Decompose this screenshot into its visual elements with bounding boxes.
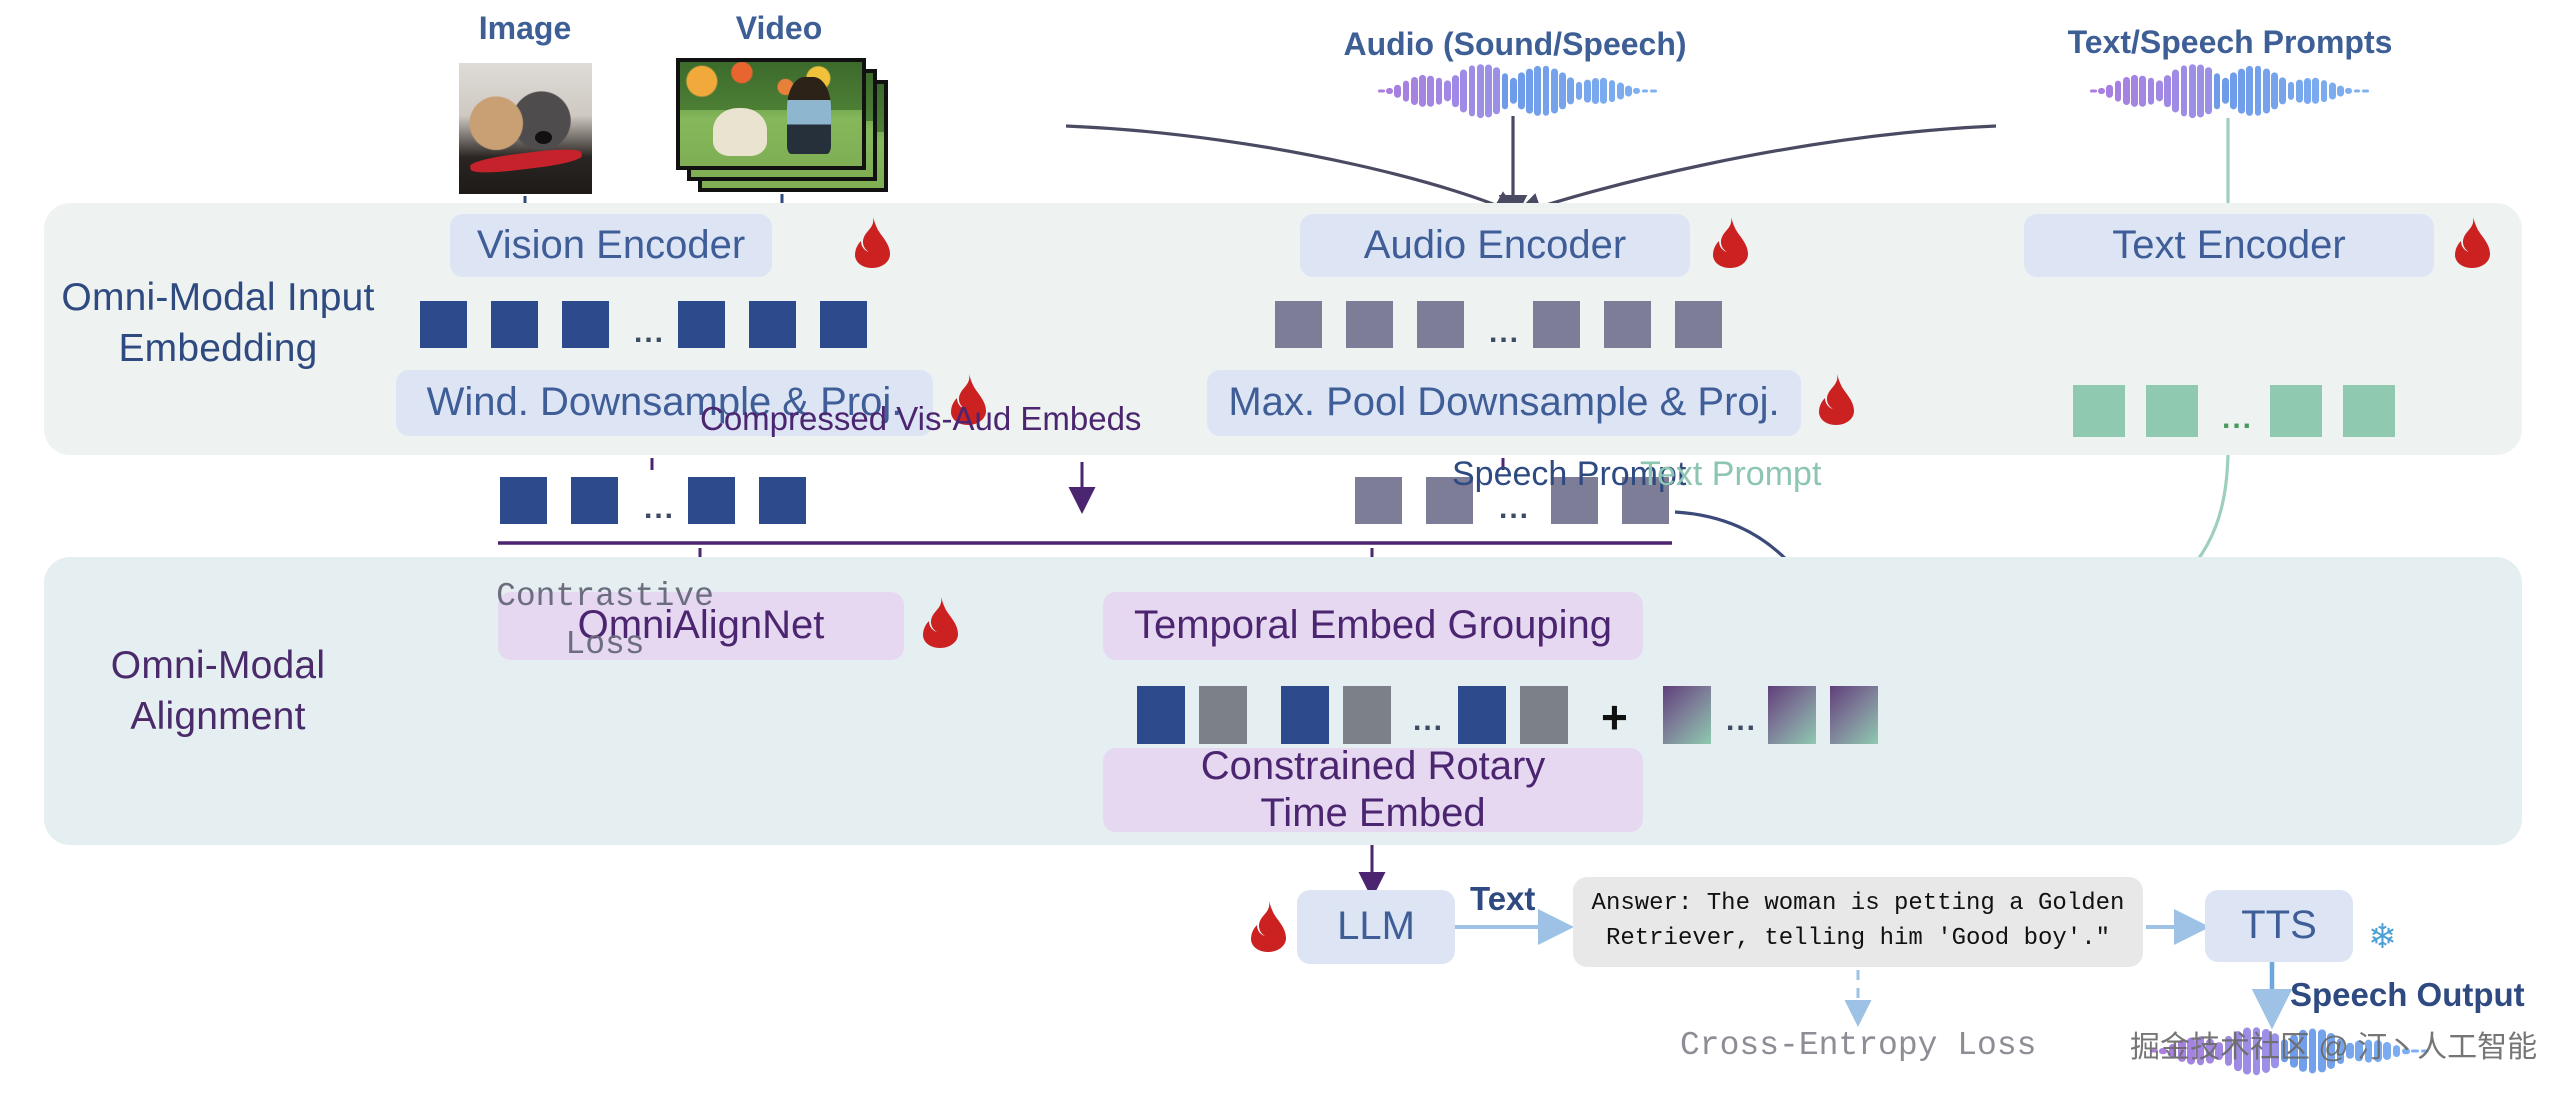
vision-token <box>562 301 609 348</box>
text-token <box>2073 385 2125 437</box>
vision-token <box>420 301 467 348</box>
combined-vision-token <box>1281 686 1329 744</box>
llm-box[interactable]: LLM <box>1297 890 1455 964</box>
speech-output-label: Speech Output <box>2290 976 2525 1014</box>
cross-entropy-loss-label: Cross-Entropy Loss <box>1680 1027 2036 1064</box>
compressed-vision-token <box>759 477 806 524</box>
audio-token <box>1675 301 1722 348</box>
audio-encoder-label: Audio Encoder <box>1364 222 1626 269</box>
vision-token <box>678 301 725 348</box>
prompt-token <box>1663 686 1711 744</box>
text-encoder-label: Text Encoder <box>2112 222 2345 269</box>
flame-icon-vision-encoder <box>852 216 892 268</box>
contrastive-loss-label: Contrastive Loss <box>440 573 770 669</box>
audio-encoder-box[interactable]: Audio Encoder <box>1300 214 1690 277</box>
combined-audio-token <box>1520 686 1568 744</box>
panel-input-label: Omni-Modal Input Embedding <box>48 272 388 375</box>
text-encoder-box[interactable]: Text Encoder <box>2024 214 2434 277</box>
image-thumbnail <box>459 63 592 194</box>
llm-label: LLM <box>1337 903 1415 950</box>
flame-icon-text-encoder <box>2452 216 2492 268</box>
compressed-audio-token <box>1355 477 1402 524</box>
diagram-canvas: Omni-Modal Input Embedding Omni-Modal Al… <box>0 0 2566 1108</box>
text-speech-waveform-icon <box>2090 62 2370 120</box>
compressed-vision-token <box>500 477 547 524</box>
audio-downsample-label: Max. Pool Downsample & Proj. <box>1228 379 1779 426</box>
vision-encoder-box[interactable]: Vision Encoder <box>450 214 772 277</box>
audio-token <box>1346 301 1393 348</box>
answer-output-box: Answer: The woman is petting a Golden Re… <box>1573 877 2143 967</box>
video-thumbnail <box>676 58 888 192</box>
audio-token <box>1275 301 1322 348</box>
temporal-embed-grouping-label: Temporal Embed Grouping <box>1134 602 1612 649</box>
vision-token <box>491 301 538 348</box>
audio-token-ellipsis: ... <box>1489 318 1520 348</box>
prompt-token-ellipsis: ... <box>1726 706 1757 736</box>
snowflake-icon-tts: ❄ <box>2368 920 2397 954</box>
flame-icon-audio-encoder <box>1710 216 1750 268</box>
combined-token-ellipsis: ... <box>1413 706 1444 736</box>
audio-token <box>1417 301 1464 348</box>
constrained-rotary-time-embed-box[interactable]: Constrained Rotary Time Embed <box>1103 748 1643 832</box>
watermark-text: 掘金技术社区 @ 汀丶人工智能 <box>2130 1022 2537 1066</box>
text-arrow-label: Text <box>1470 880 1535 918</box>
compressed-vision-token <box>571 477 618 524</box>
plus-sign: + <box>1601 690 1628 744</box>
input-header-video: Video <box>684 10 874 47</box>
tts-label: TTS <box>2241 902 2317 949</box>
flame-icon-llm <box>1248 900 1288 952</box>
audio-waveform-icon <box>1378 62 1658 120</box>
input-header-image: Image <box>430 10 620 47</box>
audio-token <box>1604 301 1651 348</box>
vision-token-ellipsis: ... <box>634 318 665 348</box>
constrained-rotary-time-embed-label: Constrained Rotary Time Embed <box>1201 743 1546 837</box>
compressed-vision-token <box>688 477 735 524</box>
text-token <box>2146 385 2198 437</box>
input-header-text-speech: Text/Speech Prompts <box>1930 24 2530 61</box>
vision-token <box>749 301 796 348</box>
audio-downsample-box[interactable]: Max. Pool Downsample & Proj. <box>1207 370 1801 436</box>
combined-vision-token <box>1137 686 1185 744</box>
flame-icon-omnialignnet <box>920 596 960 648</box>
input-header-audio: Audio (Sound/Speech) <box>1180 26 1850 63</box>
compressed-vision-ellipsis: ... <box>644 494 675 524</box>
text-token <box>2270 385 2322 437</box>
text-token <box>2343 385 2395 437</box>
panel-alignment-label: Omni-Modal Alignment <box>48 640 388 743</box>
tts-box[interactable]: TTS <box>2205 890 2353 962</box>
vision-token <box>820 301 867 348</box>
vision-encoder-label: Vision Encoder <box>477 222 745 269</box>
combined-vision-token <box>1458 686 1506 744</box>
combined-audio-token <box>1199 686 1247 744</box>
compressed-audio-ellipsis: ... <box>1499 494 1530 524</box>
compressed-embeds-label: Compressed Vis-Aud Embeds <box>700 400 1141 438</box>
flame-icon-audio-downsample <box>1816 373 1856 425</box>
audio-token <box>1533 301 1580 348</box>
combined-audio-token <box>1343 686 1391 744</box>
text-prompt-label: Text Prompt <box>1640 455 1821 494</box>
text-token-ellipsis: ... <box>2222 404 2253 434</box>
temporal-embed-grouping-box[interactable]: Temporal Embed Grouping <box>1103 592 1643 660</box>
prompt-token <box>1768 686 1816 744</box>
answer-output-text: Answer: The woman is petting a Golden Re… <box>1592 887 2125 957</box>
prompt-token <box>1830 686 1878 744</box>
